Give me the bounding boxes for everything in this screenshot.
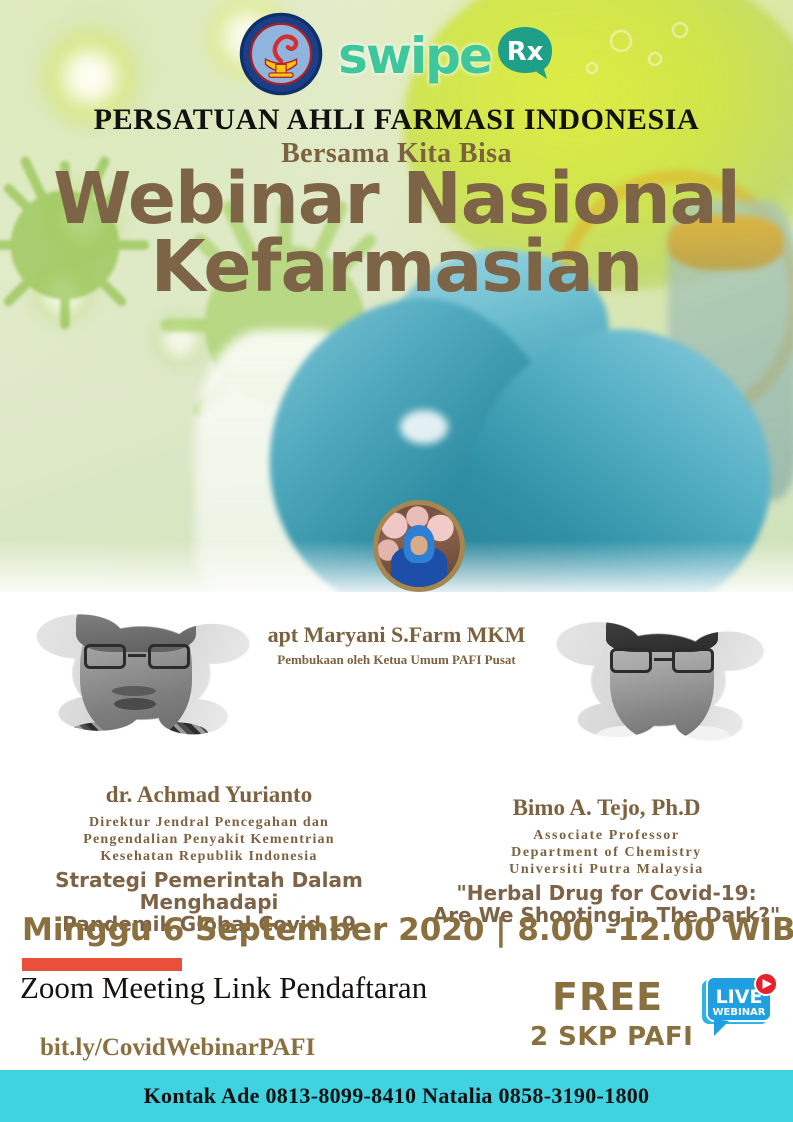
skp-credits: 2 SKP PAFI [530, 1022, 693, 1052]
portrait-mouth [114, 698, 156, 710]
affiliation-line: Associate Professor [420, 827, 793, 844]
rx-bubble-icon: Rx [495, 24, 555, 84]
svg-text:WEBINAR: WEBINAR [712, 1007, 765, 1018]
speaker-affiliation: Associate Professor Department of Chemis… [420, 827, 793, 878]
portrait-moustache [112, 686, 156, 696]
organization-name: PERSATUAN AHLI FARMASI INDONESIA [0, 103, 793, 137]
center-speaker-role: Pembukaan oleh Ketua Umum PAFI Pusat [0, 652, 793, 668]
speaker-portrait-left [28, 582, 264, 764]
free-badge: FREE [552, 975, 663, 1019]
title-line-2: Kefarmasian [0, 233, 793, 301]
center-speaker-name: apt Maryani S.Farm MKM [0, 622, 793, 648]
glove-highlight [400, 410, 448, 444]
speaker-affiliation: Direktur Jendral Pencegahan dan Pengenda… [0, 814, 418, 865]
logo-row: swipe Rx [0, 8, 793, 100]
live-webinar-badge-icon: LIVE WEBINAR [698, 972, 780, 1044]
speaker-name: dr. Achmad Yurianto [0, 782, 418, 807]
title-line-1: Webinar Nasional [0, 165, 793, 233]
avatar-image [378, 505, 460, 587]
portrait-brush-mask [548, 590, 778, 770]
contact-footer: Kontak Ade 0813-8099-8410 Natalia 0858-3… [0, 1070, 793, 1122]
speaker-name: Bimo A. Tejo, Ph.D [420, 795, 793, 820]
speaker-portrait-right [548, 590, 778, 770]
portrait-tie [652, 740, 674, 770]
registration-label: Zoom Meeting Link Pendaftaran [20, 970, 427, 1006]
swiperx-logo: swipe Rx [338, 24, 555, 84]
center-speaker-avatar [373, 500, 465, 592]
topic-line: "Herbal Drug for Covid-19: [420, 882, 793, 904]
portrait-brush-mask [28, 582, 264, 764]
affiliation-line: Department of Chemistry [420, 844, 793, 861]
speaker-block-right: Bimo A. Tejo, Ph.D Associate Professor D… [420, 795, 793, 926]
event-datetime: Minggu 6 September 2020 | 8.00 -12.00 WI… [22, 912, 793, 948]
swiperx-wordmark: swipe [338, 31, 491, 81]
affiliation-line: Direktur Jendral Pencegahan dan [0, 814, 418, 831]
page-title: Webinar Nasional Kefarmasian [0, 165, 793, 301]
affiliation-line: Pengendalian Penyakit Kementrian [0, 831, 418, 848]
affiliation-line: Universiti Putra Malaysia [420, 861, 793, 878]
avatar-face [411, 536, 428, 555]
topic-line: Strategi Pemerintah Dalam Menghadapi [0, 869, 418, 914]
svg-text:Rx: Rx [506, 37, 543, 67]
pafi-logo [238, 11, 324, 97]
registration-link[interactable]: bit.ly/CovidWebinarPAFI [40, 1034, 315, 1062]
contact-text: Kontak Ade 0813-8099-8410 Natalia 0858-3… [144, 1083, 650, 1109]
affiliation-line: Kesehatan Republik Indonesia [0, 848, 418, 865]
webinar-poster: swipe Rx PERSATUAN AHLI FARMASI INDONESI… [0, 0, 793, 1122]
